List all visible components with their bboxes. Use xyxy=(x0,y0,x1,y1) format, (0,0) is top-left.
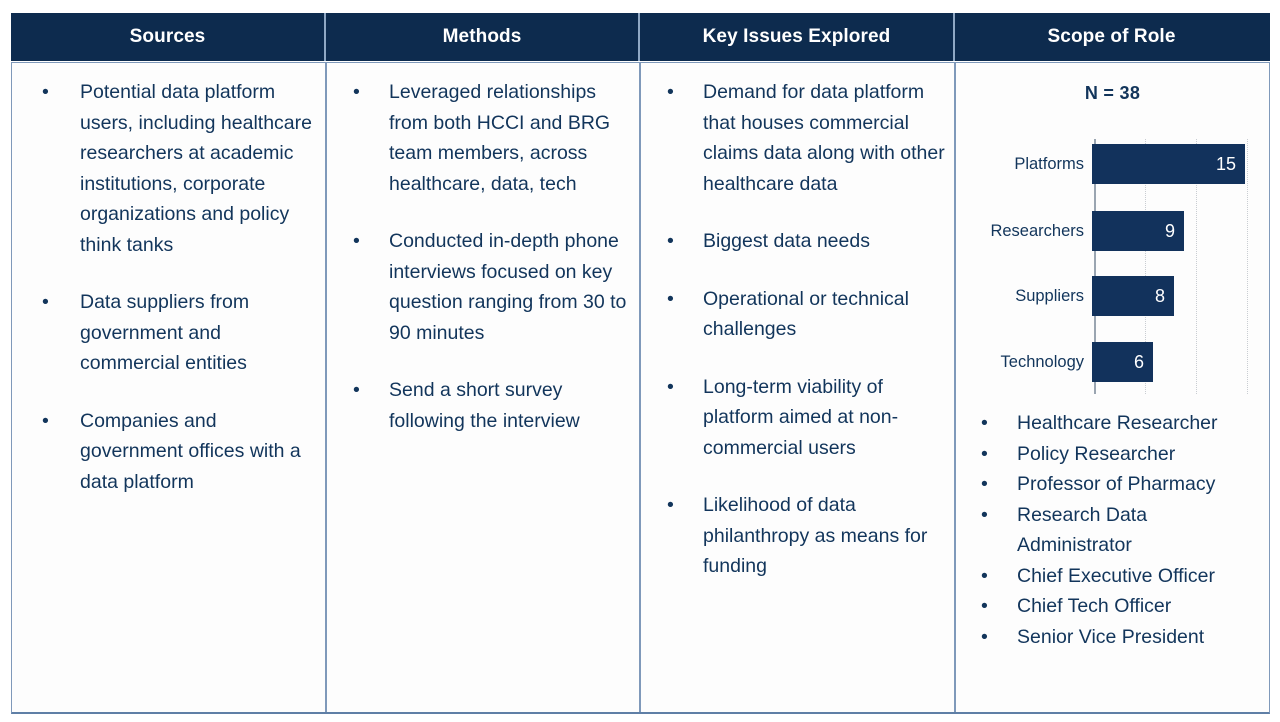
list-item-text: Demand for data platform that houses com… xyxy=(703,81,945,195)
list-item-text: Operational or technical challenges xyxy=(703,288,909,341)
slide-canvas: Sources Methods Key Issues Explored Scop… xyxy=(0,0,1280,722)
list-item: • Long-term viability of platform aimed … xyxy=(649,372,946,464)
bullet-icon: • xyxy=(42,406,49,437)
bullet-icon: • xyxy=(981,439,988,470)
column-header-sources: Sources xyxy=(11,13,326,61)
bullet-icon: • xyxy=(667,490,674,521)
bar-value-label: 15 xyxy=(1216,154,1245,175)
list-item-text: Potential data platform users, including… xyxy=(80,81,312,256)
list-item: • Healthcare Researcher xyxy=(964,408,1261,439)
list-item-text: Professor of Pharmacy xyxy=(1017,473,1215,495)
list-item: • Senior Vice President xyxy=(964,622,1261,653)
bar-suppliers: 8 xyxy=(1092,276,1174,316)
chart-title: N = 38 xyxy=(964,83,1261,104)
column-body-key-issues-explored: • Demand for data platform that houses c… xyxy=(641,63,956,712)
bar-category-label: Researchers xyxy=(964,221,1090,241)
bullet-icon: • xyxy=(667,284,674,315)
bullet-icon: • xyxy=(667,372,674,403)
list-item-text: Chief Executive Officer xyxy=(1017,565,1215,587)
column-header-scope-of-role: Scope of Role xyxy=(955,13,1268,61)
list-item-text: Companies and government offices with a … xyxy=(80,410,301,493)
table-body-row: • Potential data platform users, includi… xyxy=(11,62,1270,714)
list-item-text: Leveraged relationships from both HCCI a… xyxy=(389,81,610,195)
bar-track: 8 xyxy=(1090,276,1267,316)
scope-of-role-list: • Healthcare Researcher • Policy Researc… xyxy=(964,408,1261,652)
comparison-table: Sources Methods Key Issues Explored Scop… xyxy=(11,13,1270,714)
bar-category-label: Technology xyxy=(964,352,1090,372)
list-item: • Likelihood of data philanthropy as mea… xyxy=(649,490,946,582)
scope-of-role-bar-chart: N = 38 Platforms 15 xyxy=(964,83,1261,408)
bar-row-platforms: Platforms 15 xyxy=(964,144,1267,184)
list-item: • Companies and government offices with … xyxy=(20,406,317,498)
column-body-scope-of-role: N = 38 Platforms 15 xyxy=(956,63,1269,712)
chart-plot-area: Platforms 15 Researchers 9 xyxy=(964,139,1267,394)
list-item: • Chief Executive Officer xyxy=(964,561,1261,592)
bar-category-label: Platforms xyxy=(964,154,1090,174)
bullet-icon: • xyxy=(667,226,674,257)
column-header-key-issues-explored: Key Issues Explored xyxy=(640,13,955,61)
list-item: • Demand for data platform that houses c… xyxy=(649,77,946,199)
list-item-text: Policy Researcher xyxy=(1017,443,1175,465)
list-item: • Data suppliers from government and com… xyxy=(20,287,317,379)
list-item: • Research Data Administrator xyxy=(964,500,1261,561)
bar-row-suppliers: Suppliers 8 xyxy=(964,276,1267,316)
list-item-text: Research Data Administrator xyxy=(1017,504,1147,557)
key-issues-bullet-list: • Demand for data platform that houses c… xyxy=(649,77,946,582)
list-item: • Operational or technical challenges xyxy=(649,284,946,345)
list-item-text: Send a short survey following the interv… xyxy=(389,379,580,432)
bar-researchers: 9 xyxy=(1092,211,1184,251)
bullet-icon: • xyxy=(981,469,988,500)
list-item-text: Likelihood of data philanthropy as means… xyxy=(703,494,927,577)
bar-track: 9 xyxy=(1090,211,1267,251)
bar-row-technology: Technology 6 xyxy=(964,342,1267,382)
bar-value-label: 8 xyxy=(1155,286,1174,307)
list-item: • Policy Researcher xyxy=(964,439,1261,470)
bullet-icon: • xyxy=(981,591,988,622)
sources-bullet-list: • Potential data platform users, includi… xyxy=(20,77,317,497)
bar-platforms: 15 xyxy=(1092,144,1245,184)
column-header-methods: Methods xyxy=(326,13,640,61)
table-header-row: Sources Methods Key Issues Explored Scop… xyxy=(11,13,1270,62)
list-item-text: Healthcare Researcher xyxy=(1017,412,1218,434)
list-item: • Potential data platform users, includi… xyxy=(20,77,317,260)
bullet-icon: • xyxy=(981,408,988,439)
list-item: • Professor of Pharmacy xyxy=(964,469,1261,500)
bar-technology: 6 xyxy=(1092,342,1153,382)
list-item: • Chief Tech Officer xyxy=(964,591,1261,622)
list-item-text: Biggest data needs xyxy=(703,230,870,252)
bar-track: 15 xyxy=(1090,144,1267,184)
list-item: • Biggest data needs xyxy=(649,226,946,257)
column-body-sources: • Potential data platform users, includi… xyxy=(12,63,327,712)
bullet-icon: • xyxy=(42,77,49,108)
bullet-icon: • xyxy=(981,622,988,653)
bar-category-label: Suppliers xyxy=(964,286,1090,306)
list-item-text: Senior Vice President xyxy=(1017,626,1204,648)
list-item-text: Data suppliers from government and comme… xyxy=(80,291,249,374)
bullet-icon: • xyxy=(353,226,360,257)
list-item: • Leveraged relationships from both HCCI… xyxy=(335,77,631,199)
bar-value-label: 9 xyxy=(1165,221,1184,242)
bar-value-label: 6 xyxy=(1134,352,1153,373)
bar-track: 6 xyxy=(1090,342,1267,382)
list-item: • Send a short survey following the inte… xyxy=(335,375,631,436)
bullet-icon: • xyxy=(353,375,360,406)
list-item-text: Long-term viability of platform aimed at… xyxy=(703,376,898,459)
list-item-text: Chief Tech Officer xyxy=(1017,595,1171,617)
bar-row-researchers: Researchers 9 xyxy=(964,211,1267,251)
column-body-methods: • Leveraged relationships from both HCCI… xyxy=(327,63,641,712)
bullet-icon: • xyxy=(353,77,360,108)
bullet-icon: • xyxy=(667,77,674,108)
list-item: • Conducted in-depth phone interviews fo… xyxy=(335,226,631,348)
list-item-text: Conducted in-depth phone interviews focu… xyxy=(389,230,626,344)
bullet-icon: • xyxy=(981,500,988,531)
methods-bullet-list: • Leveraged relationships from both HCCI… xyxy=(335,77,631,436)
bullet-icon: • xyxy=(981,561,988,592)
bullet-icon: • xyxy=(42,287,49,318)
